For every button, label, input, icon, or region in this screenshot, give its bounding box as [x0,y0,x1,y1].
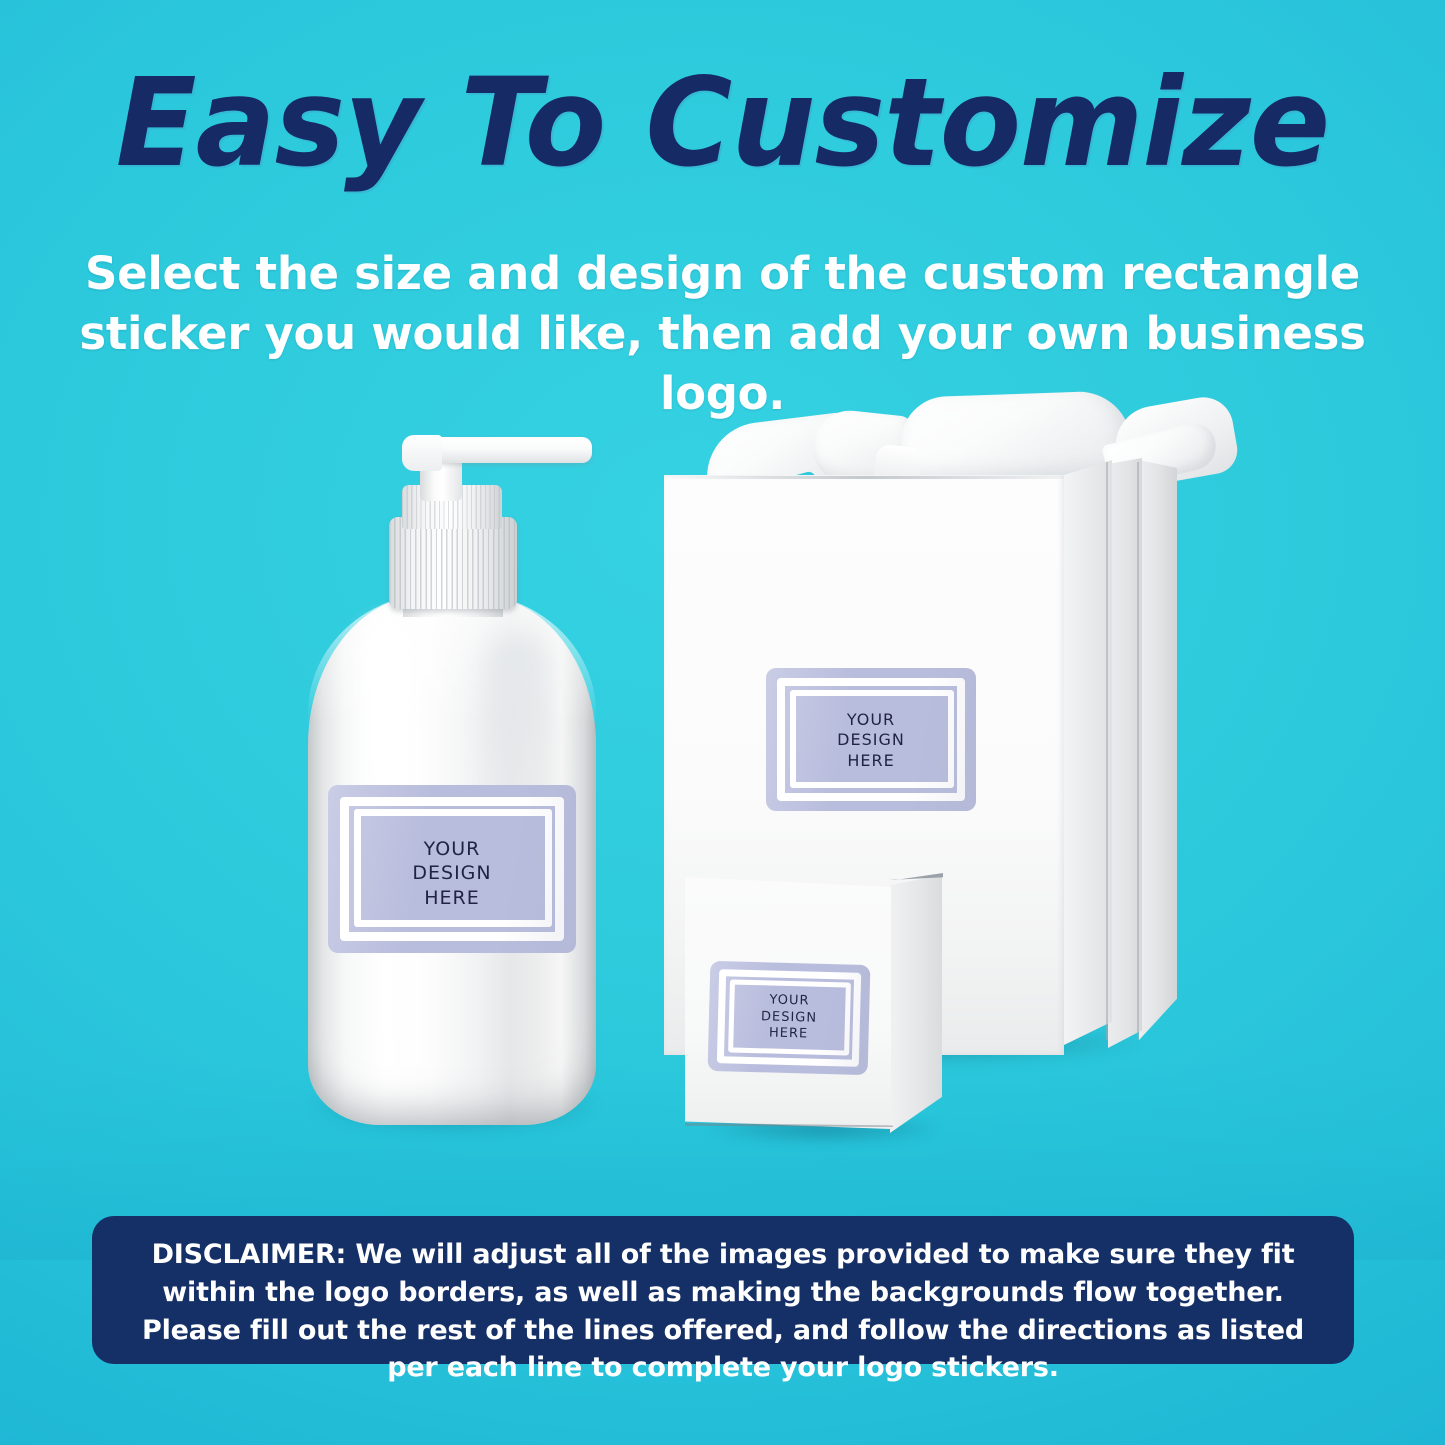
gift-box-seam-b [1137,462,1139,1040]
sticker-text: YOUR DESIGN HERE [708,991,869,1045]
pump-bottle-mockup: YOUR DESIGN HERE [290,425,610,1165]
sticker-label-small-box[interactable]: YOUR DESIGN HERE [708,961,871,1075]
disclaimer-text: DISCLAIMER: We will adjust all of the im… [132,1236,1314,1387]
disclaimer-label: DISCLAIMER: [152,1239,347,1270]
promo-banner: Easy To Customize Select the size and de… [0,0,1445,1445]
sticker-label-bottle[interactable]: YOUR DESIGN HERE [328,785,576,953]
sticker-line-1: YOUR [766,710,976,730]
sticker-label-gift-box[interactable]: YOUR DESIGN HERE [766,668,976,811]
sticker-line-2: DESIGN [328,861,576,885]
small-box-mockup: YOUR DESIGN HERE [685,865,975,1165]
small-box-side-panel [890,875,942,1133]
gift-box-panel-side [1064,460,1112,1045]
page-title: Easy To Customize [22,62,1424,184]
disclaimer-banner: DISCLAIMER: We will adjust all of the im… [92,1216,1354,1364]
sticker-line-3: HERE [328,886,576,910]
sticker-text: YOUR DESIGN HERE [766,710,976,771]
sticker-line-2: DESIGN [766,730,976,750]
pump-collar-ribbed [389,517,517,609]
gift-box-panel-far [1139,456,1177,1046]
sticker-line-1: YOUR [328,837,576,861]
pump-lip [402,435,442,471]
gift-box-lid-seam [664,476,1064,479]
gift-box-seam-a [1106,462,1108,1040]
sticker-line-3: HERE [766,751,976,771]
sticker-text: YOUR DESIGN HERE [328,837,576,910]
